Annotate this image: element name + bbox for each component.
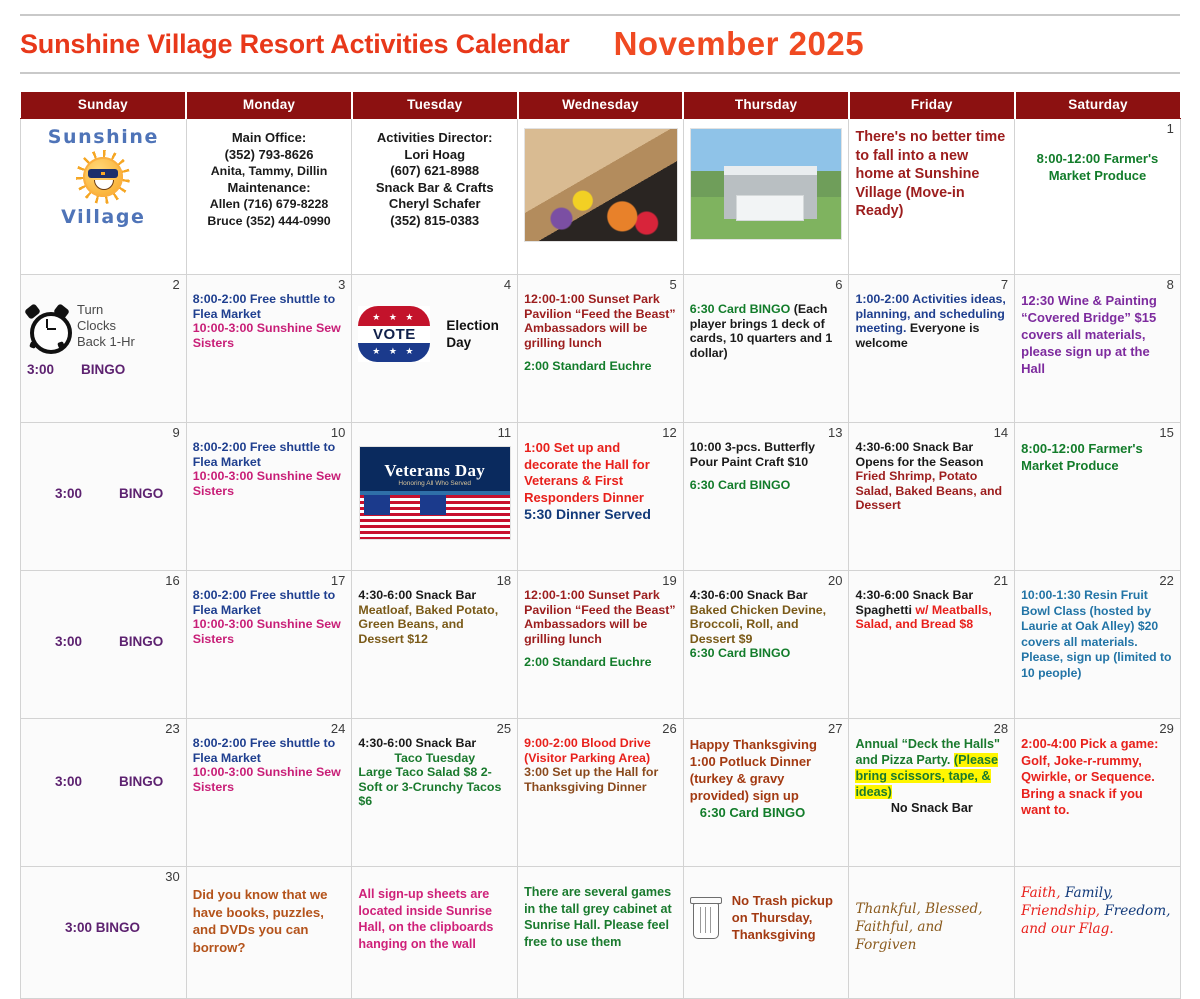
event-1-farmers-market: 8:00-12:00 Farmer's Market Produce (1021, 150, 1174, 184)
event-9-bingo-time: 3:00 (55, 486, 119, 501)
day-cell-29[interactable]: 29 2:00-4:00 Pick a game: Golf, Joke-r-r… (1015, 719, 1181, 867)
event-22-resin-fruit-bowl-class: 10:00-1:30 Resin Fruit Bowl Class (hoste… (1021, 588, 1174, 681)
event-25-menu: Large Taco Salad $8 2-Soft or 3-Crunchy … (358, 765, 511, 809)
day-cell-16[interactable]: 16 3:00BINGO (21, 571, 187, 719)
day-number-14: 14 (855, 426, 1008, 440)
footer-family: Family, (1065, 885, 1113, 901)
day-number-24: 24 (193, 722, 346, 736)
event-5-euchre: 2:00 Standard Euchre (524, 359, 677, 374)
info-cell-logo: Sunshine Village (21, 119, 187, 275)
footer-freedom: Freedom, (1104, 903, 1170, 919)
day-cell-21[interactable]: 21 4:30-6:00 Snack Bar Spaghetti w/ Meat… (849, 571, 1015, 719)
event-24-sew-sisters: 10:00-3:00 Sunshine Sew Sisters (193, 765, 346, 794)
main-office-label: Main Office: (193, 130, 346, 147)
footer-note-thankful-text: Thankful, Blessed, Faithful, and Forgive… (855, 900, 1008, 954)
maintenance-allen: Allen (716) 679-8228 (193, 196, 346, 213)
event-30-bingo-label: 3:00 BINGO (65, 920, 140, 935)
day-cell-24[interactable]: 24 8:00-2:00 Free shuttle to Flea Market… (186, 719, 352, 867)
main-office-phone: (352) 793-8626 (193, 147, 346, 164)
event-3-shuttle: 8:00-2:00 Free shuttle to Flea Market (193, 292, 346, 321)
event-26-setup-hall: 3:00 Set up the Hall for Thanksgiving Di… (524, 765, 677, 794)
snackbar-crafts-name: Cheryl Schafer (358, 196, 511, 213)
day-number-21: 21 (855, 574, 1008, 588)
day-cell-3[interactable]: 3 8:00-2:00 Free shuttle to Flea Market … (186, 275, 352, 423)
event-10-sew-sisters: 10:00-3:00 Sunshine Sew Sisters (193, 469, 346, 498)
calendar-week-1: Sunshine Village Main Office: (352) 793-… (21, 119, 1181, 275)
calendar-week-2: 2 Turn Clocks Back 1-Hr (21, 275, 1181, 423)
day-cell-26[interactable]: 26 9:00-2:00 Blood Drive (Visitor Parkin… (518, 719, 684, 867)
info-cell-move-in-note: There's no better time to fall into a ne… (849, 119, 1015, 275)
day-number-12: 12 (524, 426, 677, 440)
weekday-header-thursday: Thursday (683, 92, 849, 119)
turn-clocks-note: Turn Clocks Back 1-Hr (77, 302, 135, 350)
day-cell-18[interactable]: 18 4:30-6:00 Snack Bar Meatloaf, Baked P… (352, 571, 518, 719)
day-cell-12[interactable]: 12 1:00 Set up and decorate the Hall for… (518, 423, 684, 571)
footer-note-books-puzzles: Did you know that we have books, puzzles… (186, 867, 352, 999)
veterans-day-banner-subtitle: Honoring All Who Served (360, 480, 510, 487)
event-27-happy-thanksgiving: Happy Thanksgiving (690, 736, 843, 753)
page-title: Sunshine Village Resort Activities Calen… (20, 29, 570, 60)
footer-and-our-flag: and our Flag. (1021, 921, 1114, 937)
american-flags-icon (360, 495, 510, 539)
footer-note-books-text: Did you know that we have books, puzzles… (193, 886, 346, 956)
snackbar-crafts-label: Snack Bar & Crafts (358, 180, 511, 197)
footer-faith: Faith, (1021, 885, 1065, 901)
event-30-bingo: 3:00 BINGO (27, 920, 180, 935)
weekday-header-saturday: Saturday (1015, 92, 1181, 119)
day-number-25: 25 (358, 722, 511, 736)
event-23-bingo-label: BINGO (119, 774, 163, 789)
day-cell-22[interactable]: 22 10:00-1:30 Resin Fruit Bowl Class (ho… (1015, 571, 1181, 719)
day-cell-15[interactable]: 15 8:00-12:00 Farmer's Market Produce (1015, 423, 1181, 571)
event-18-menu: Meatloaf, Baked Potato, Green Beans, and… (358, 603, 511, 647)
day-cell-19[interactable]: 19 12:00-1:00 Sunset Park Pavilion “Feed… (518, 571, 684, 719)
event-9-bingo-label: BINGO (119, 486, 163, 501)
day-cell-2[interactable]: 2 Turn Clocks Back 1-Hr (21, 275, 187, 423)
day-cell-8[interactable]: 8 12:30 Wine & Painting “Covered Bridge”… (1015, 275, 1181, 423)
sunshine-village-logo: Sunshine Village (27, 122, 180, 228)
day-number-9: 9 (27, 426, 180, 440)
event-6-card-bingo: 6:30 Card BINGO (690, 302, 791, 316)
calendar-grid: Sunday Monday Tuesday Wednesday Thursday… (20, 92, 1181, 999)
day-number-7: 7 (855, 278, 1008, 292)
event-20-card-bingo: 6:30 Card BINGO (690, 646, 843, 661)
event-14-snackbar-opens: 4:30-6:00 Snack Bar Opens for the Season (855, 440, 1008, 469)
sun-icon (27, 148, 180, 206)
day-number-26: 26 (524, 722, 677, 736)
veterans-day-banner-photo: Veterans Day Honoring All Who Served (359, 446, 511, 540)
event-3-sew-sisters: 10:00-3:00 Sunshine Sew Sisters (193, 321, 346, 350)
event-4-election-day: Election Day (446, 317, 511, 351)
day-cell-25[interactable]: 25 4:30-6:00 Snack Bar Taco Tuesday Larg… (352, 719, 518, 867)
footer-note-games-text: There are several games in the tall grey… (524, 884, 677, 950)
event-2-bingo-time: 3:00 (27, 362, 81, 377)
day-number-17: 17 (193, 574, 346, 588)
day-cell-28[interactable]: 28 Annual “Deck the Halls" and Pizza Par… (849, 719, 1015, 867)
alarm-clock-icon (27, 305, 67, 347)
day-cell-11[interactable]: 11 Veterans Day Honoring All Who Served (352, 423, 518, 571)
event-23-bingo-time: 3:00 (55, 774, 119, 789)
event-2-bingo: 3:00BINGO (27, 362, 180, 377)
activities-director-name: Lori Hoag (358, 147, 511, 164)
event-16-bingo-label: BINGO (119, 634, 163, 649)
event-5-feed-the-beast: 12:00-1:00 Sunset Park Pavilion “Feed th… (524, 292, 677, 350)
event-16-bingo: 3:00BINGO (27, 634, 180, 649)
day-cell-1[interactable]: 1 8:00-12:00 Farmer's Market Produce (1015, 119, 1181, 275)
day-cell-9[interactable]: 9 3:00BINGO (21, 423, 187, 571)
weekday-header-wednesday: Wednesday (518, 92, 684, 119)
vote-badge-icon: ★ ★ ★ VOTE ★ ★ ★ (358, 306, 430, 362)
calendar-week-6: 30 3:00 BINGO Did you know that we have … (21, 867, 1181, 999)
day-number-16: 16 (27, 574, 180, 588)
event-25-snackbar: 4:30-6:00 Snack Bar (358, 736, 511, 751)
event-29-pick-a-game: 2:00-4:00 Pick a game: Golf, Joke-r-rumm… (1021, 736, 1174, 819)
move-in-note-text: There's no better time to fall into a ne… (855, 128, 1008, 221)
day-cell-27[interactable]: 27 Happy Thanksgiving 1:00 Potluck Dinne… (683, 719, 849, 867)
day-number-19: 19 (524, 574, 677, 588)
day-number-3: 3 (193, 278, 346, 292)
footer-note-no-trash: No Trash pickup on Thursday, Thanksgivin… (683, 867, 849, 999)
calendar-week-3: 9 3:00BINGO 10 8:00-2:00 Free shuttle to… (21, 423, 1181, 571)
event-8-wine-painting: 12:30 Wine & Painting “Covered Bridge” $… (1021, 292, 1174, 377)
vote-badge-text: VOTE (358, 326, 430, 343)
cornucopia-photo (524, 128, 678, 242)
event-28-no-snack-bar: No Snack Bar (855, 800, 1008, 816)
event-27-potluck: 1:00 Potluck Dinner (turkey & gravy prov… (690, 753, 843, 804)
event-19-euchre: 2:00 Standard Euchre (524, 655, 677, 670)
calendar-week-4: 16 3:00BINGO 17 8:00-2:00 Free shuttle t… (21, 571, 1181, 719)
turn-clocks-l3: Back 1-Hr (77, 334, 135, 350)
day-number-10: 10 (193, 426, 346, 440)
day-number-15: 15 (1021, 426, 1174, 440)
footer-note-thankful: Thankful, Blessed, Faithful, and Forgive… (849, 867, 1015, 999)
footer-note-signup-text: All sign-up sheets are located inside Su… (358, 886, 511, 952)
trash-can-icon (690, 897, 720, 939)
day-cell-5[interactable]: 5 12:00-1:00 Sunset Park Pavilion “Feed … (518, 275, 684, 423)
event-15-farmers-market: 8:00-12:00 Farmer's Market Produce (1021, 440, 1174, 474)
day-number-30: 30 (27, 870, 180, 884)
event-13-card-bingo: 6:30 Card BINGO (690, 478, 843, 493)
vote-badge-top-stars: ★ ★ ★ (358, 306, 430, 326)
maintenance-bruce: Bruce (352) 444-0990 (193, 213, 346, 230)
event-20-menu: Baked Chicken Devine, Broccoli, Roll, an… (690, 603, 843, 647)
footer-note-games-cabinet: There are several games in the tall grey… (518, 867, 684, 999)
footer-note-signup-sheets: All sign-up sheets are located inside Su… (352, 867, 518, 999)
day-number-23: 23 (27, 722, 180, 736)
day-number-20: 20 (690, 574, 843, 588)
footer-note-no-trash-text: No Trash pickup on Thursday, Thanksgivin… (732, 892, 843, 943)
weekday-header-tuesday: Tuesday (352, 92, 518, 119)
day-cell-7[interactable]: 7 1:00-2:00 Activities ideas, planning, … (849, 275, 1015, 423)
day-number-29: 29 (1021, 722, 1174, 736)
day-cell-17[interactable]: 17 8:00-2:00 Free shuttle to Flea Market… (186, 571, 352, 719)
calendar-header: Sunshine Village Resort Activities Calen… (20, 14, 1180, 74)
event-17-shuttle: 8:00-2:00 Free shuttle to Flea Market (193, 588, 346, 617)
day-cell-13[interactable]: 13 10:00 3-pcs. Butterfly Pour Paint Cra… (683, 423, 849, 571)
day-number-5: 5 (524, 278, 677, 292)
weekday-header-row: Sunday Monday Tuesday Wednesday Thursday… (21, 92, 1181, 119)
event-27-card-bingo: 6:30 Card BINGO (690, 804, 843, 821)
event-10-shuttle: 8:00-2:00 Free shuttle to Flea Market (193, 440, 346, 469)
day-number-28: 28 (855, 722, 1008, 736)
day-cell-23[interactable]: 23 3:00BINGO (21, 719, 187, 867)
turn-clocks-l1: Turn (77, 302, 135, 318)
calendar-page: Sunshine Village Resort Activities Calen… (0, 14, 1200, 961)
info-cell-activities-director: Activities Director: Lori Hoag (607) 621… (352, 119, 518, 275)
footer-note-faith-family: Faith, Family, Friendship, Freedom, and … (1015, 867, 1181, 999)
day-cell-14[interactable]: 14 4:30-6:00 Snack Bar Opens for the Sea… (849, 423, 1015, 571)
info-cell-cornucopia-photo (518, 119, 684, 275)
info-cell-main-office: Main Office: (352) 793-8626 Anita, Tammy… (186, 119, 352, 275)
weekday-header-sunday: Sunday (21, 92, 187, 119)
event-12-setup-decorate: 1:00 Set up and decorate the Hall for Ve… (524, 440, 677, 506)
event-17-sew-sisters: 10:00-3:00 Sunshine Sew Sisters (193, 617, 346, 646)
event-19-feed-the-beast: 12:00-1:00 Sunset Park Pavilion “Feed th… (524, 588, 677, 646)
event-16-bingo-time: 3:00 (55, 634, 119, 649)
day-number-13: 13 (690, 426, 843, 440)
event-24-shuttle: 8:00-2:00 Free shuttle to Flea Market (193, 736, 346, 765)
veterans-day-banner-title: Veterans Day (360, 461, 510, 481)
day-cell-6[interactable]: 6 6:30 Card BINGO (Each player brings 1 … (683, 275, 849, 423)
day-number-22: 22 (1021, 574, 1174, 588)
weekday-header-monday: Monday (186, 92, 352, 119)
event-13-pour-paint: 10:00 3-pcs. Butterfly Pour Paint Craft … (690, 440, 843, 469)
event-9-bingo: 3:00BINGO (27, 486, 180, 501)
event-18-snackbar: 4:30-6:00 Snack Bar (358, 588, 511, 603)
vote-badge-bottom-stars: ★ ★ ★ (358, 343, 430, 362)
day-cell-10[interactable]: 10 8:00-2:00 Free shuttle to Flea Market… (186, 423, 352, 571)
turn-clocks-l2: Clocks (77, 318, 135, 334)
day-number-27: 27 (690, 722, 843, 736)
month-year-title: November 2025 (614, 25, 864, 63)
snackbar-crafts-phone: (352) 815-0383 (358, 213, 511, 230)
logo-word-sunshine: Sunshine (27, 126, 180, 148)
info-cell-home-photo (683, 119, 849, 275)
day-cell-4[interactable]: 4 ★ ★ ★ VOTE ★ ★ ★ Election Day (352, 275, 518, 423)
day-number-2: 2 (27, 278, 180, 292)
activities-director-label: Activities Director: (358, 130, 511, 147)
logo-word-village: Village (27, 206, 180, 228)
main-office-staff: Anita, Tammy, Dillin (193, 163, 346, 180)
activities-director-phone: (607) 621-8988 (358, 163, 511, 180)
event-25-taco-tuesday: Taco Tuesday (358, 751, 511, 766)
maintenance-label: Maintenance: (193, 180, 346, 197)
day-number-18: 18 (358, 574, 511, 588)
day-number-4: 4 (358, 278, 511, 292)
day-number-11: 11 (358, 426, 511, 440)
event-23-bingo: 3:00BINGO (27, 774, 180, 789)
day-cell-30[interactable]: 30 3:00 BINGO (21, 867, 187, 999)
day-number-6: 6 (690, 278, 843, 292)
day-number-1: 1 (1021, 122, 1174, 136)
event-14-menu: Fried Shrimp, Potato Salad, Baked Beans,… (855, 469, 1008, 513)
calendar-week-5: 23 3:00BINGO 24 8:00-2:00 Free shuttle t… (21, 719, 1181, 867)
event-2-bingo-label: BINGO (81, 362, 125, 377)
event-20-snackbar: 4:30-6:00 Snack Bar (690, 588, 843, 603)
day-cell-20[interactable]: 20 4:30-6:00 Snack Bar Baked Chicken Dev… (683, 571, 849, 719)
event-12-dinner-served: 5:30 Dinner Served (524, 506, 677, 523)
manufactured-home-photo (690, 128, 842, 240)
weekday-header-friday: Friday (849, 92, 1015, 119)
event-26-blood-drive: 9:00-2:00 Blood Drive (Visitor Parking A… (524, 736, 677, 765)
day-number-8: 8 (1021, 278, 1174, 292)
footer-friendship: Friendship, (1021, 903, 1104, 919)
